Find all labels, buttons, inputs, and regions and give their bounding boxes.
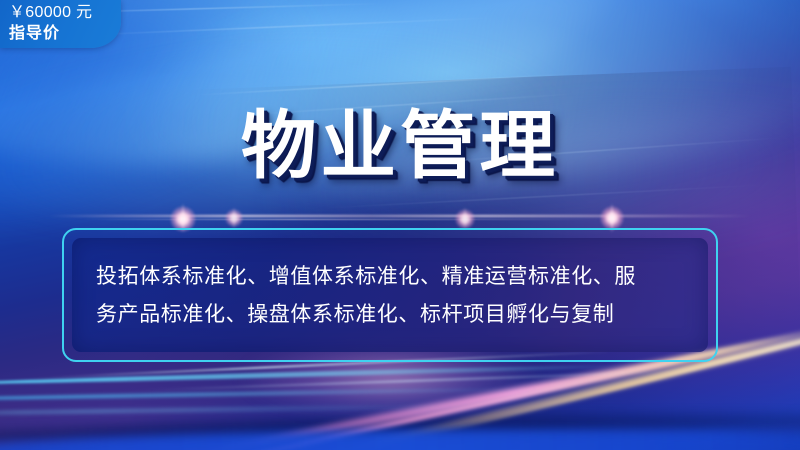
promo-banner: ￥60000 元 指导价 物业管理 投拓体系标准化、增值体系标准化、精准运营标准…	[0, 0, 800, 450]
description-text: 投拓体系标准化、增值体系标准化、精准运营标准化、服 务产品标准化、操盘体系标准化…	[72, 257, 708, 333]
description-box-inner: 投拓体系标准化、增值体系标准化、精准运营标准化、服 务产品标准化、操盘体系标准化…	[72, 238, 708, 352]
flare-line-secondary	[80, 219, 608, 220]
flare-sparkle-ray-3	[464, 207, 466, 229]
flare-sparkle-ray-2	[233, 207, 235, 229]
description-line-2: 务产品标准化、操盘体系标准化、标杆项目孵化与复制	[96, 295, 684, 333]
description-line-1: 投拓体系标准化、增值体系标准化、精准运营标准化、服	[96, 257, 684, 295]
price-badge-amount: ￥60000 元	[9, 3, 121, 23]
description-box: 投拓体系标准化、增值体系标准化、精准运营标准化、服 务产品标准化、操盘体系标准化…	[62, 228, 718, 362]
page-title: 物业管理	[0, 104, 800, 188]
price-badge: ￥60000 元 指导价	[0, 0, 121, 48]
price-badge-label: 指导价	[9, 23, 121, 44]
flare-line-primary	[48, 215, 752, 217]
